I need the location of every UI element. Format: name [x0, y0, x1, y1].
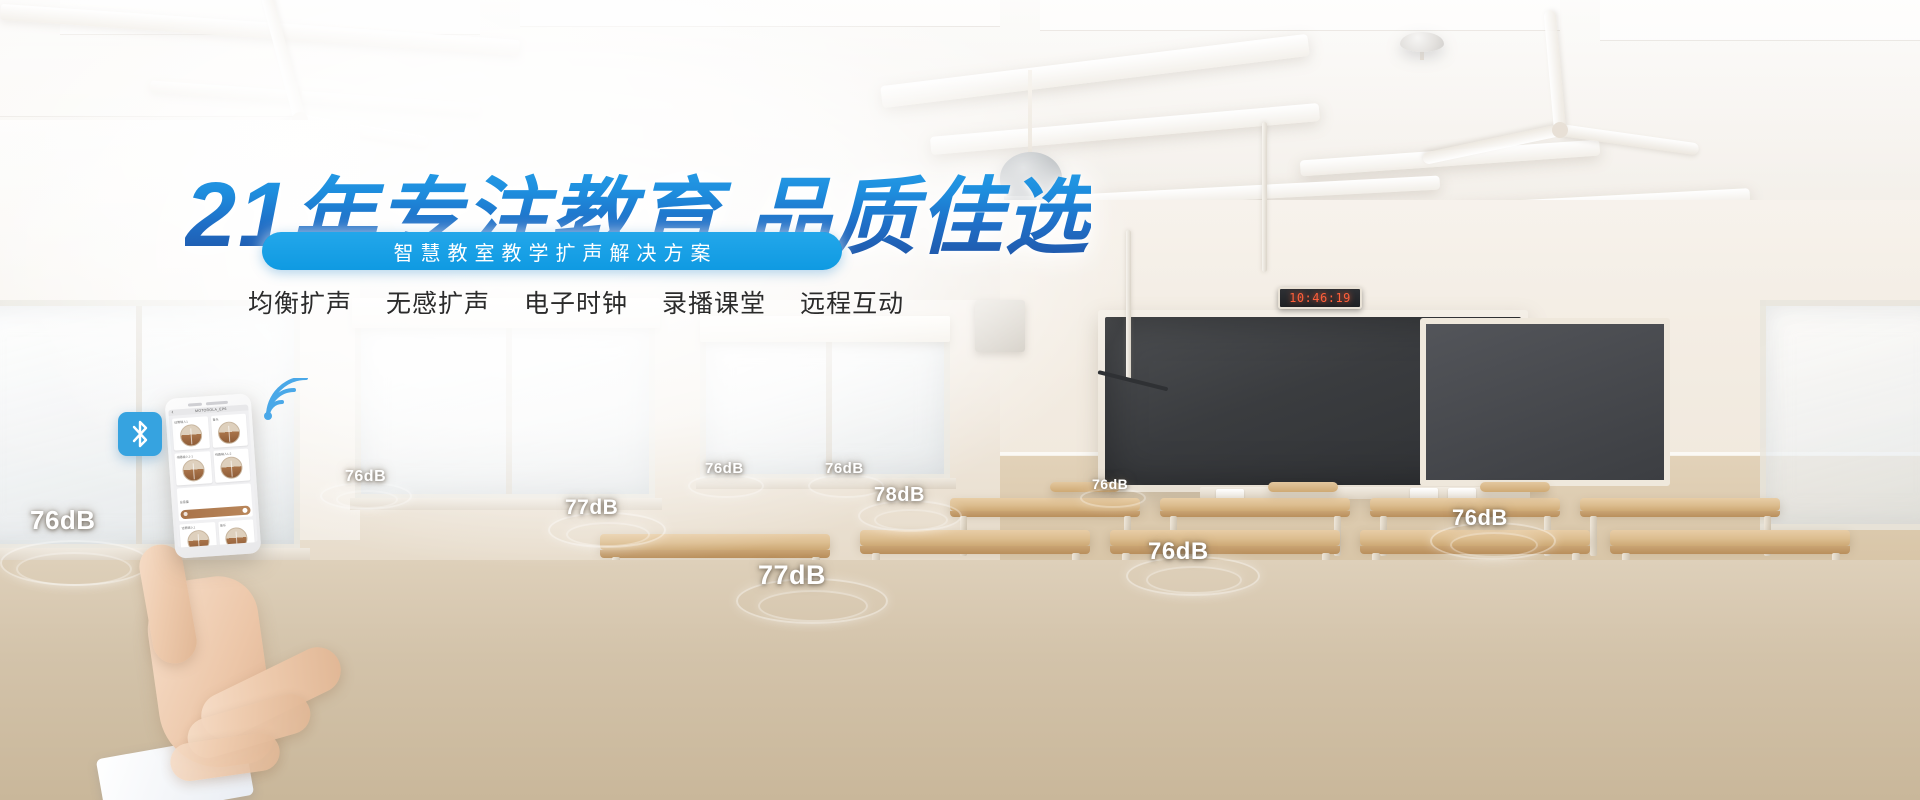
volume-knob[interactable] [220, 456, 243, 479]
feature-item-3: 录播课堂 [662, 284, 766, 320]
subtitle-pill: 智慧教室教学扩声解决方案 [262, 232, 842, 270]
subtitle-pill-label: 智慧教室教学扩声解决方案 [387, 237, 718, 266]
volume-knob[interactable] [186, 529, 209, 548]
feature-list: 均衡扩声 无感扩声 电子时钟 录播课堂 远程互动 [248, 284, 904, 320]
wireless-signal-glyph [262, 378, 308, 422]
bluetooth-icon [118, 412, 162, 456]
volume-knob[interactable] [179, 424, 202, 447]
ceiling-panel [0, 46, 300, 116]
master-volume-card[interactable]: 总音量 [177, 483, 253, 521]
ceiling-panel [1040, 0, 1560, 30]
chair [1480, 482, 1550, 492]
window [1760, 300, 1920, 530]
window [700, 330, 950, 480]
chair [1268, 482, 1338, 492]
master-volume-slider[interactable] [180, 505, 250, 519]
wall-amplifier-box [975, 300, 1025, 352]
master-volume-label: 总音量 [180, 500, 189, 505]
db-label: 76dB [1148, 538, 1209, 566]
feature-item-0: 均衡扩声 [248, 284, 352, 320]
mic-pole [1262, 122, 1267, 272]
phone-screen[interactable]: ‹ MOTOROLA_EP6 话筒输入1 音乐 线路输入1-1 线路输入1-2 [168, 404, 257, 547]
volume-knob[interactable] [225, 526, 248, 547]
volume-knob[interactable] [218, 421, 241, 444]
hero-banner: 76dB 76dB 77dB 77dB 76dB 76dB 78dB 76dB … [0, 0, 1920, 800]
feature-item-4: 远程互动 [800, 284, 904, 320]
control-card-label: 话筒输入1 [181, 524, 213, 530]
db-label: 76dB [345, 468, 386, 486]
electronic-clock: 10:46:19 [1278, 287, 1362, 309]
db-label: 76dB [30, 505, 96, 536]
db-label: 76dB [825, 460, 864, 477]
db-label: 76dB [1452, 505, 1508, 531]
control-card[interactable]: 音乐 [210, 414, 248, 448]
mic-pole [1126, 230, 1131, 380]
bluetooth-glyph [129, 419, 151, 449]
control-card[interactable]: 线路输入1-1 [174, 451, 212, 485]
db-label: 77dB [758, 560, 826, 591]
app-control-grid[interactable]: 话筒输入1 音乐 线路输入1-1 线路输入1-2 总音量 [169, 410, 258, 547]
control-card-label: 音乐 [220, 521, 252, 527]
window [355, 320, 655, 500]
ceiling-panel [520, 0, 1000, 26]
db-label: 76dB [705, 460, 744, 477]
feature-item-1: 无感扩声 [386, 284, 490, 320]
control-card[interactable]: 话筒输入1 [179, 521, 217, 547]
volume-knob[interactable] [182, 459, 205, 482]
control-card[interactable]: 话筒输入1 [172, 416, 210, 450]
control-card[interactable]: 线路输入1-2 [213, 448, 251, 482]
control-card[interactable]: 音乐 [218, 519, 256, 548]
finger [136, 541, 200, 667]
ceiling-panel [1600, 0, 1920, 40]
blackboard-right-wing [1420, 318, 1670, 486]
db-label: 76dB [1092, 476, 1128, 492]
smartphone[interactable]: ‹ MOTOROLA_EP6 话筒输入1 音乐 线路输入1-1 线路输入1-2 [165, 393, 262, 559]
feature-item-2: 电子时钟 [524, 284, 628, 320]
wireless-signal-icon [262, 378, 308, 422]
clock-time: 10:46:19 [1289, 291, 1351, 305]
db-label: 78dB [874, 484, 925, 507]
hand-holding-phone [100, 500, 440, 800]
db-label: 77dB [565, 496, 618, 520]
